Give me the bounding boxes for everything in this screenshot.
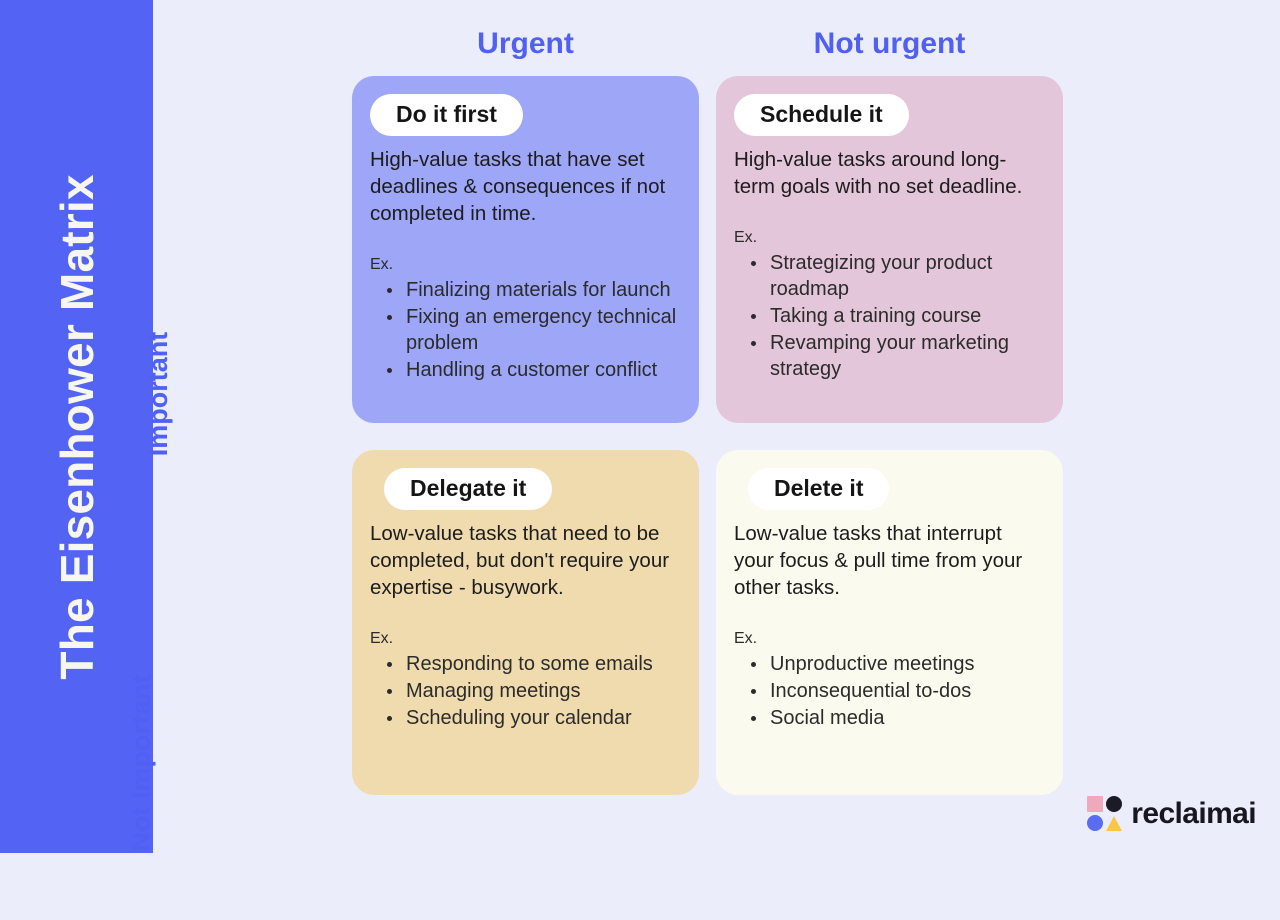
list-item: Revamping your marketing strategy xyxy=(768,330,1045,382)
reclaim-logo: reclaimai xyxy=(1087,796,1256,831)
matrix-grid: Urgent Not urgent Important Not Importan… xyxy=(153,0,1280,853)
reclaim-logo-mark-icon xyxy=(1087,796,1122,831)
quadrant-examples-list: Strategizing your product roadmap Taking… xyxy=(734,250,1045,382)
quadrant-description: Low-value tasks that interrupt your focu… xyxy=(734,520,1045,601)
row-label-important: Important xyxy=(240,143,298,423)
quadrant-description: Low-value tasks that need to be complete… xyxy=(370,520,681,601)
list-item: Finalizing materials for launch xyxy=(404,277,681,303)
quadrant-description: High-value tasks that have set deadlines… xyxy=(370,146,681,227)
blue-circle-icon xyxy=(1087,815,1103,831)
quadrant-delegate-it: Delegate it Low-value tasks that need to… xyxy=(352,450,699,795)
list-item: Strategizing your product roadmap xyxy=(768,250,1045,302)
quadrant-do-it-first: Do it first High-value tasks that have s… xyxy=(352,76,699,423)
list-item: Social media xyxy=(768,705,1045,731)
list-item: Taking a training course xyxy=(768,303,1045,329)
quadrant-examples-list: Unproductive meetings Inconsequential to… xyxy=(734,651,1045,731)
row-label-important-text: Important xyxy=(129,254,187,534)
quadrant-examples-list: Finalizing materials for launch Fixing a… xyxy=(370,277,681,383)
quadrant-examples-list: Responding to some emails Managing meeti… xyxy=(370,651,681,731)
quadrant-badge-do-it-first: Do it first xyxy=(370,94,523,136)
list-item: Handling a customer conflict xyxy=(404,357,681,383)
logo-wordmark: reclaimai xyxy=(1131,799,1256,829)
dark-circle-icon xyxy=(1106,796,1122,812)
column-header-not-urgent: Not urgent xyxy=(716,22,1063,66)
page-title: The Eisenhower Matrix xyxy=(54,174,100,679)
quadrant-examples-label: Ex. xyxy=(734,228,1045,247)
list-item: Responding to some emails xyxy=(404,651,681,677)
pink-square-icon xyxy=(1087,796,1103,812)
quadrant-badge-schedule-it: Schedule it xyxy=(734,94,909,136)
yellow-triangle-icon xyxy=(1106,816,1122,831)
quadrant-examples-label: Ex. xyxy=(370,629,681,648)
eisenhower-matrix-infographic: The Eisenhower Matrix Urgent Not urgent … xyxy=(0,0,1280,853)
quadrant-badge-delete-it: Delete it xyxy=(748,468,889,510)
quadrant-delete-it: Delete it Low-value tasks that interrupt… xyxy=(716,450,1063,795)
quadrant-description: High-value tasks around long-term goals … xyxy=(734,146,1045,200)
quadrant-examples-label: Ex. xyxy=(370,255,681,274)
list-item: Scheduling your calendar xyxy=(404,705,681,731)
column-header-urgent: Urgent xyxy=(352,22,699,66)
list-item: Managing meetings xyxy=(404,678,681,704)
quadrant-schedule-it: Schedule it High-value tasks around long… xyxy=(716,76,1063,423)
list-item: Fixing an emergency technical problem xyxy=(404,304,681,356)
list-item: Unproductive meetings xyxy=(768,651,1045,677)
list-item: Inconsequential to-dos xyxy=(768,678,1045,704)
quadrant-examples-label: Ex. xyxy=(734,629,1045,648)
quadrant-badge-delegate-it: Delegate it xyxy=(384,468,552,510)
row-label-not-important-text: Not Important xyxy=(112,606,170,920)
row-label-not-important: Not Important xyxy=(240,478,298,792)
